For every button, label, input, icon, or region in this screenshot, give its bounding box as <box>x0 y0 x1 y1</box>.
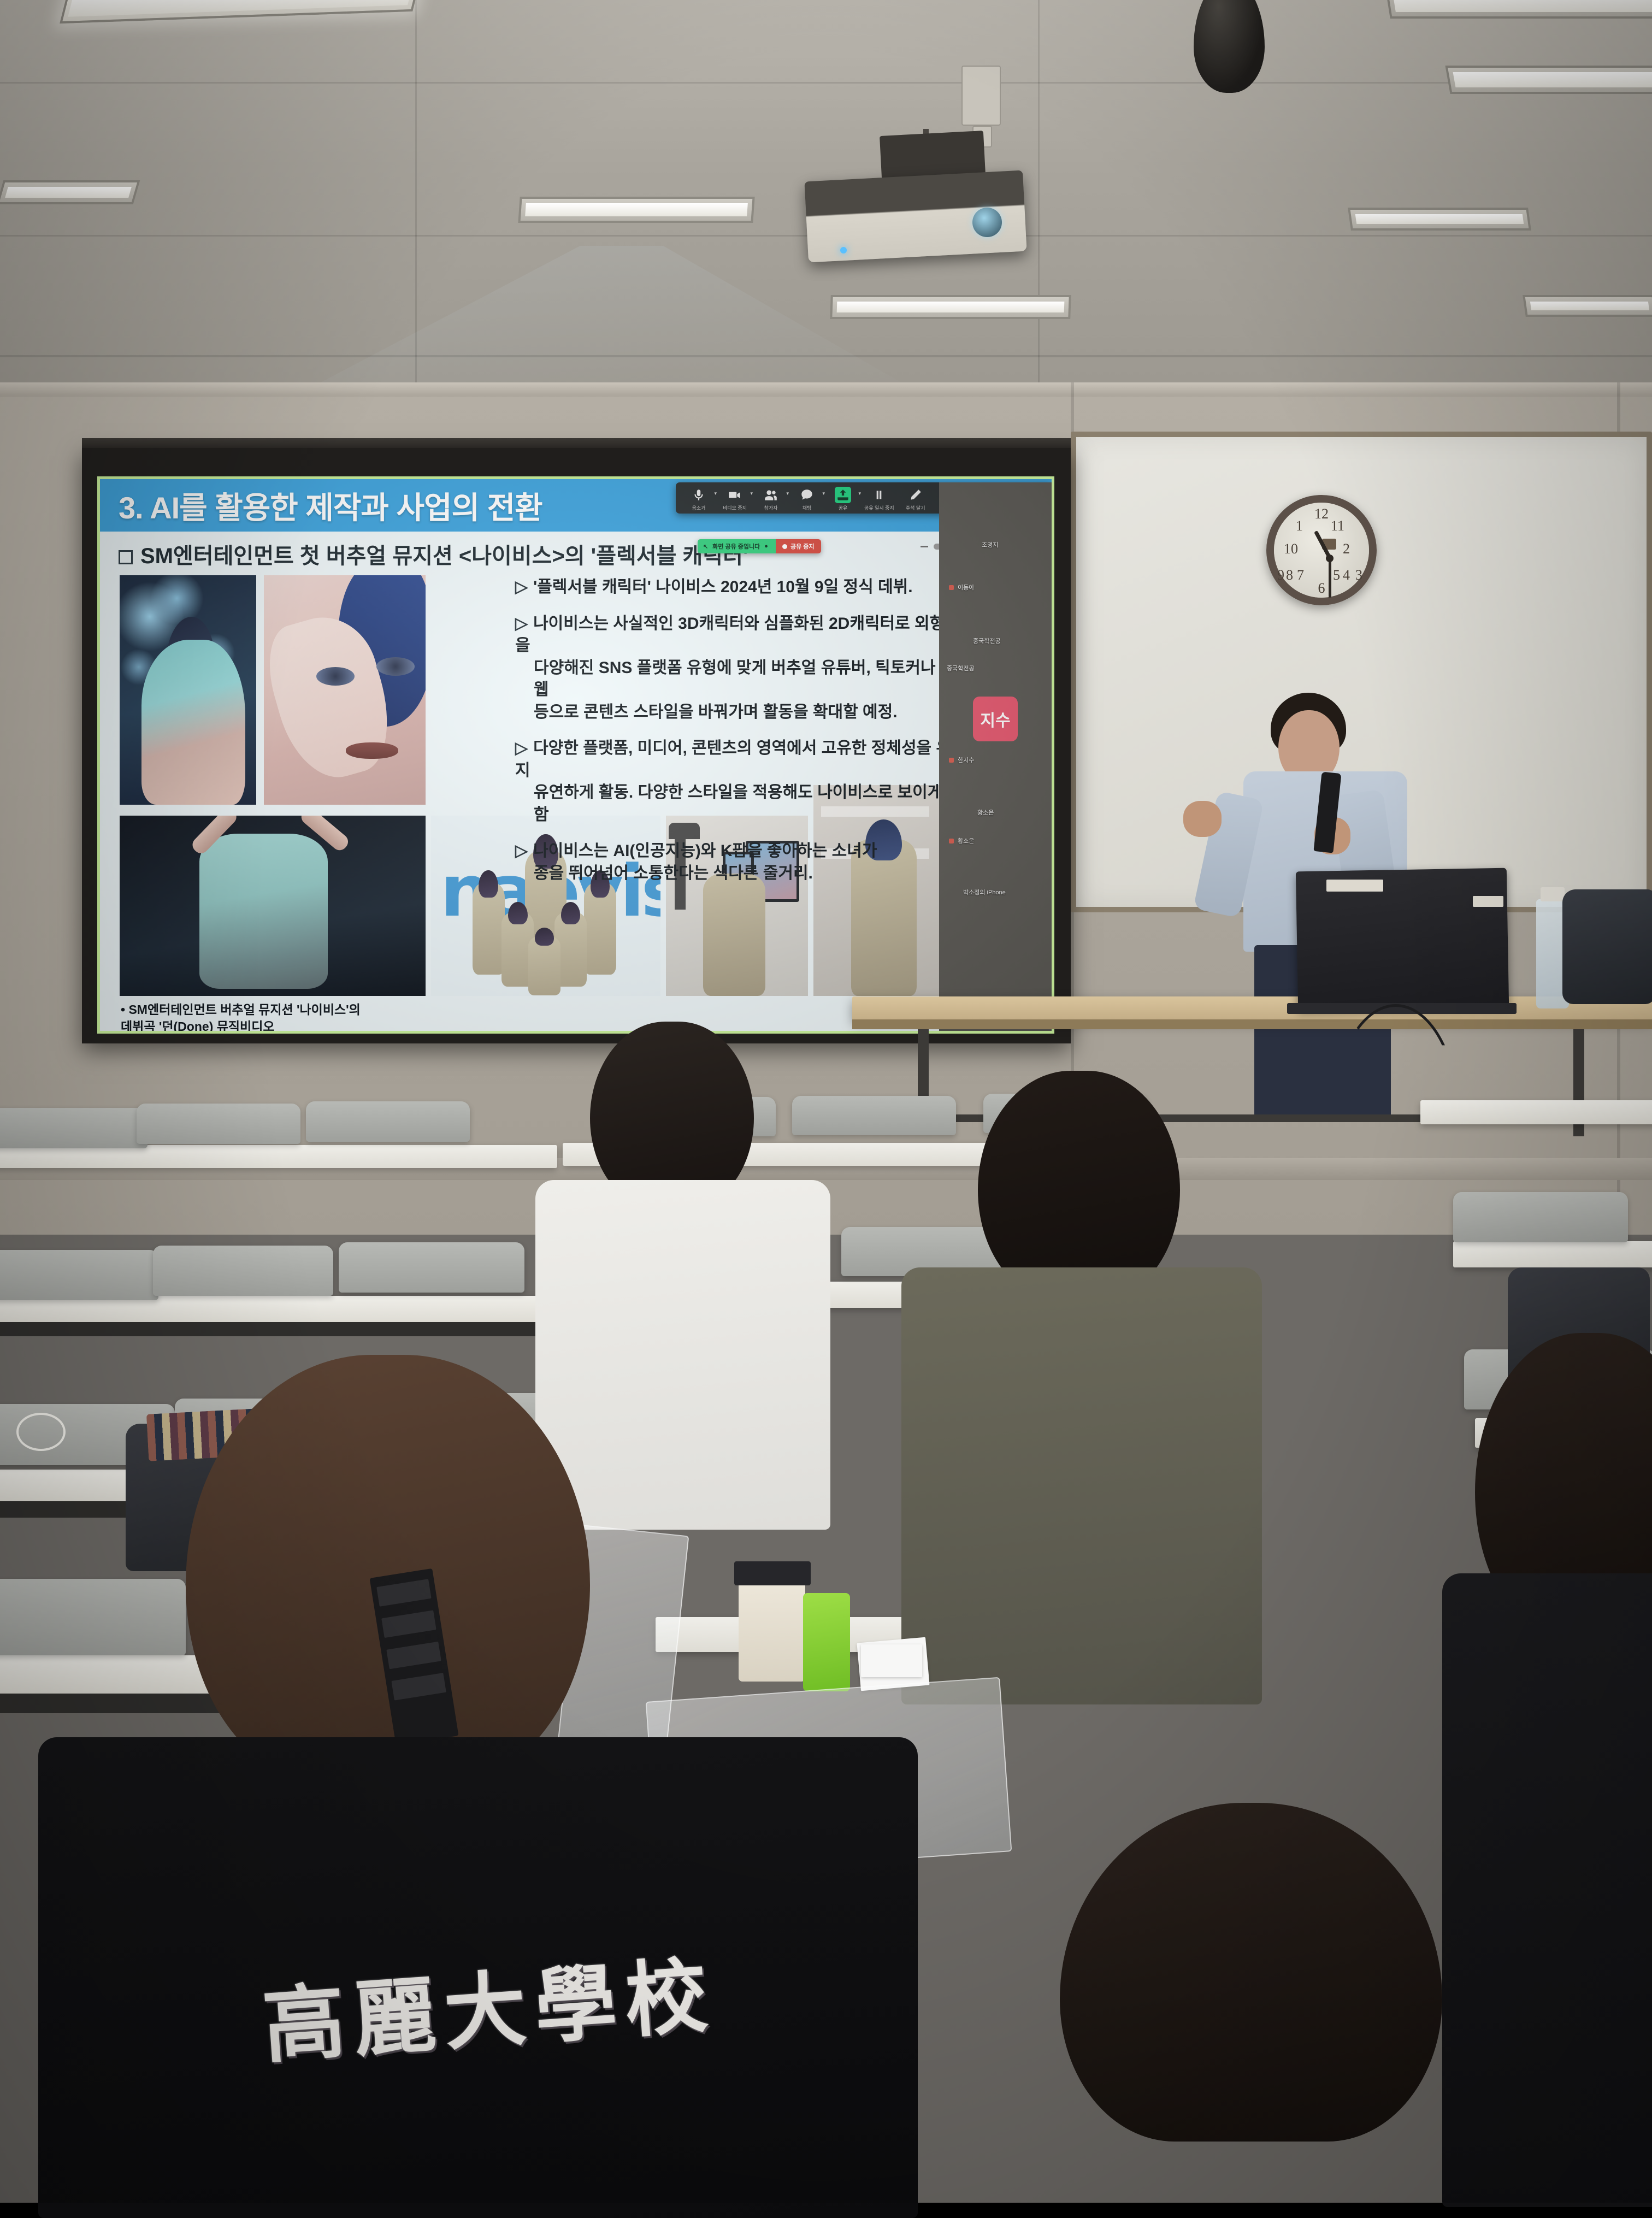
video-camera-icon <box>727 487 743 503</box>
audience-student-rear-right <box>994 1803 1650 2207</box>
zoom-tool-label: 공유 일시 중지 <box>864 504 894 511</box>
caption-line-1: SM엔터테인먼트 버추얼 뮤지션 '나이비스'의 <box>128 1002 360 1017</box>
bottle-cap <box>1541 887 1565 901</box>
chair <box>137 1104 300 1144</box>
chair <box>0 1108 147 1148</box>
zoom-tool-label: 채팅 <box>803 504 812 511</box>
participants-icon <box>763 487 779 503</box>
ceiling-light <box>1385 0 1652 19</box>
desk-underside <box>0 1322 585 1336</box>
stop-share-button[interactable]: 공유 중지 <box>776 539 821 553</box>
zoom-mute-button[interactable]: ▾ 음소거 <box>681 486 716 511</box>
ceiling-sensor <box>961 66 1001 126</box>
ceiling-light <box>1348 208 1531 231</box>
slide-subtitle: SM엔터테인먼트 첫 버추얼 뮤지션 <나이비스>의 '플렉서블 캐릭터' <box>119 538 748 570</box>
bullet-line: '플렉서블 캐릭터' 나이비스 2024년 10월 9일 정식 데뷔. <box>533 578 913 596</box>
ceiling-light <box>1445 66 1652 94</box>
student-head <box>186 1355 590 1781</box>
projector-mount-bracket <box>880 131 986 180</box>
bullet-item: ▷나이비스는 AI(인공지능)와 K팝을 좋아하는 소녀가 종을 뛰어넘어 소통… <box>515 840 952 884</box>
bullet-item: ▷'플렉서블 캐릭터' 나이비스 2024년 10월 9일 정식 데뷔. <box>515 576 952 599</box>
participant-mute-icon <box>949 585 954 590</box>
ceiling-light <box>830 295 1071 319</box>
share-status-indicator: ↖ 화면 공유 중입니다 ● <box>698 539 776 553</box>
bullet-marker: ▷ <box>515 739 528 757</box>
bullet-marker: ▷ <box>515 578 528 596</box>
projector-status-led <box>840 247 847 253</box>
zoom-tool-label: 음소거 <box>692 504 706 511</box>
clock-face: 12 1 2 3 4 5 6 7 8 9 10 11 <box>1274 503 1369 598</box>
student-head <box>1060 1803 1442 2142</box>
caption-line-2: 데뷔곡 '던(Done) 뮤직비디오 <box>121 1019 275 1034</box>
zoom-participants-strip[interactable]: 조명지 이동아 중국학전공 중국학전공 지수 한지수 황소은 황소은 박소정의 … <box>939 482 1054 1034</box>
coiled-cable <box>16 1413 66 1451</box>
ceiling-light <box>1523 295 1652 317</box>
chevron-down-icon[interactable]: ▾ <box>822 491 825 497</box>
ceiling-speaker-dome <box>1194 0 1265 93</box>
audience-student-ku-jacket: 高麗大學校 <box>87 1355 1016 2207</box>
participant-name: 한지수 <box>958 756 974 764</box>
stop-share-label: 공유 중지 <box>790 542 815 551</box>
share-info-icon: ● <box>764 543 768 550</box>
participant-name: 황소은 <box>977 808 994 817</box>
zoom-tool-label: 주석 달기 <box>906 504 925 511</box>
zoom-tool-label: 참가자 <box>764 504 778 511</box>
zoom-share-screen-button[interactable]: ▾ 공유 <box>825 486 860 511</box>
bullet-line: 나이비스는 AI(인공지능)와 K팝을 좋아하는 소녀가 <box>533 842 877 860</box>
share-screen-icon <box>835 487 851 503</box>
stop-share-dot-icon <box>782 544 787 549</box>
checkbox-square-icon <box>119 550 133 564</box>
student-head <box>978 1071 1180 1300</box>
chat-icon <box>799 487 815 503</box>
slide-image-2d-character <box>264 575 426 805</box>
share-status-text: 화면 공유 중입니다 <box>712 542 760 551</box>
zoom-annotate-button[interactable]: 주석 달기 <box>898 486 933 511</box>
chevron-down-icon[interactable]: ▾ <box>858 491 861 497</box>
bullet-line: 다양해진 SNS 플랫폼 유형에 맞게 버추얼 유튜버, 틱토커나 웹 <box>515 657 952 701</box>
chair <box>153 1246 333 1296</box>
participant-name: 황소은 <box>958 836 974 845</box>
share-arrow-icon: ↖ <box>703 543 708 550</box>
chevron-down-icon[interactable]: ▾ <box>714 491 717 497</box>
bullet-marker: ▷ <box>515 615 528 633</box>
ceiling-light <box>518 197 754 223</box>
chevron-down-icon[interactable]: ▾ <box>786 491 789 497</box>
slide-image-3d-character <box>120 575 256 805</box>
presentation-slide: 3. AI를 활용한 제작과 사업의 전환 SM엔터테인먼트 첫 버추얼 뮤지션… <box>97 476 1054 1034</box>
slide-caption: • SM엔터테인먼트 버추얼 뮤지션 '나이비스'의 데뷔곡 '던(Done) … <box>121 1001 361 1034</box>
podium-table-top <box>852 996 1652 1020</box>
zoom-participants-button[interactable]: ▾ 참가자 <box>753 486 788 511</box>
ceiling-light <box>0 180 140 204</box>
laptop-sticker <box>1326 880 1383 892</box>
pause-icon <box>871 487 887 503</box>
participant-mute-icon <box>949 839 954 843</box>
slide-title-text: 3. AI를 활용한 제작과 사업의 전환 <box>100 483 542 528</box>
student-head <box>590 1022 754 1207</box>
zoom-tool-label: 비디오 중지 <box>723 504 747 511</box>
bullet-item: ▷다양한 플랫폼, 미디어, 콘텐츠의 영역에서 고유한 정체성을 유지 유연하… <box>515 738 952 826</box>
chair <box>306 1101 470 1142</box>
slide-bullet-list: ▷'플렉서블 캐릭터' 나이비스 2024년 10월 9일 정식 데뷔. ▷나이… <box>515 576 952 899</box>
projector-lens <box>972 208 1002 237</box>
desk-row <box>0 1145 557 1168</box>
zoom-share-status-bar[interactable]: ↖ 화면 공유 중입니다 ● 공유 중지 <box>698 539 821 553</box>
bullet-line: 등으로 콘텐츠 스타일을 바꿔가며 활동을 확대할 예정. <box>515 701 952 724</box>
participant-name: 중국학전공 <box>947 664 975 673</box>
bullet-line: 다양한 플랫폼, 미디어, 콘텐츠의 영역에서 고유한 정체성을 유지 <box>515 739 951 780</box>
slide-image-music-video-still <box>120 816 426 996</box>
caption-marker: • <box>121 1002 125 1017</box>
participant-mute-icon <box>949 758 954 763</box>
chair <box>0 1250 158 1300</box>
zoom-tool-label: 공유 <box>839 504 848 511</box>
participant-name: 박소정의 iPhone <box>963 888 1006 896</box>
zoom-pause-share-button[interactable]: 공유 일시 중지 <box>862 486 897 511</box>
ceiling-light <box>60 0 421 23</box>
laptop-sticker <box>1473 896 1503 907</box>
zoom-chat-button[interactable]: ▾ 채팅 <box>789 486 824 511</box>
minimize-icon[interactable] <box>921 546 928 547</box>
clock-minute-hand <box>1329 557 1331 598</box>
bullet-line: 나이비스는 사실적인 3D캐릭터와 심플화된 2D캐릭터로 외형을 <box>515 615 945 655</box>
screen-roller <box>82 438 1071 448</box>
bullet-marker: ▷ <box>515 842 528 860</box>
slide-subtitle-text: SM엔터테인먼트 첫 버추얼 뮤지션 <나이비스>의 '플렉서블 캐릭터' <box>140 544 748 568</box>
participant-name: 조명지 <box>982 540 998 549</box>
bullet-line: 유연하게 활동. 다양한 스타일을 적용해도 나이비스로 보이게 함 <box>515 782 952 826</box>
microphone-icon <box>691 487 707 503</box>
participant-avatar[interactable]: 지수 <box>973 697 1018 741</box>
chevron-down-icon[interactable]: ▾ <box>750 491 753 497</box>
annotate-pen-icon <box>907 487 924 503</box>
chair <box>339 1242 524 1293</box>
presenter-left-hand <box>1183 801 1222 837</box>
zoom-stop-video-button[interactable]: ▾ 비디오 중지 <box>717 486 752 511</box>
participant-name: 중국학전공 <box>973 636 1001 645</box>
bullet-line: 종을 뛰어넘어 소통한다는 색다른 줄거리. <box>515 863 952 885</box>
projection-screen: 3. AI를 활용한 제작과 사업의 전환 SM엔터테인먼트 첫 버추얼 뮤지션… <box>82 448 1071 1043</box>
wall-clock: 12 1 2 3 4 5 6 7 8 9 10 11 <box>1266 495 1377 605</box>
participant-name: 이동아 <box>958 583 974 592</box>
lecture-hall-scene: 12 1 2 3 4 5 6 7 8 9 10 11 3. AI를 활용한 <box>0 0 1652 2203</box>
equipment-bag <box>1562 889 1652 1004</box>
bullet-item: ▷나이비스는 사실적인 3D캐릭터와 심플화된 2D캐릭터로 외형을 다양해진 … <box>515 613 952 724</box>
